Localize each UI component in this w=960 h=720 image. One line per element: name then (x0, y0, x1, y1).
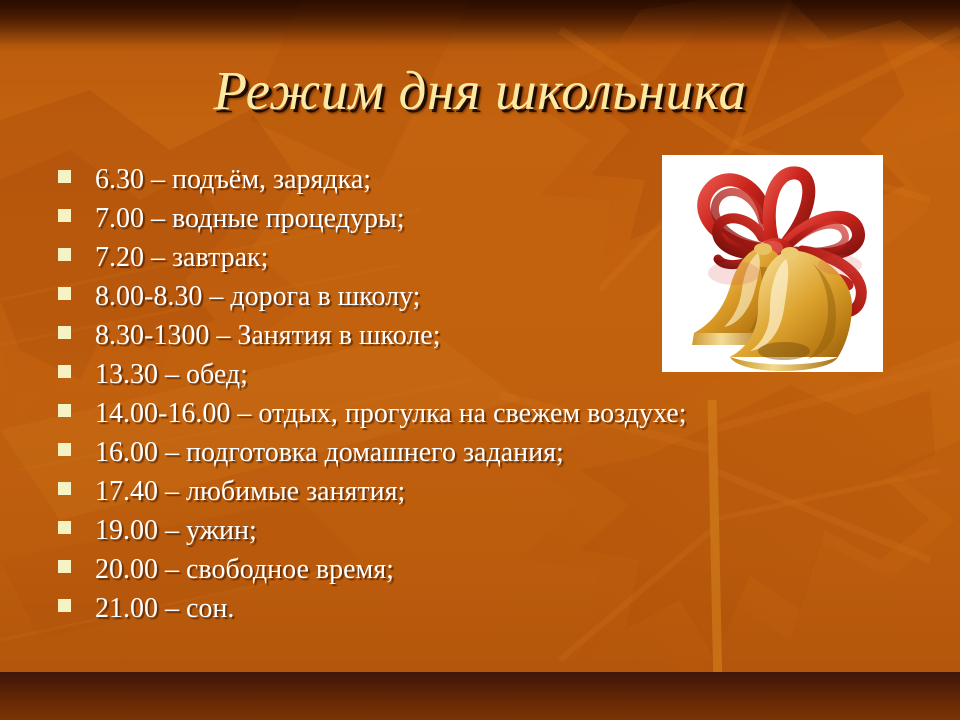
bullet-square-icon (58, 209, 71, 222)
bullet-square-icon (58, 521, 71, 534)
list-item: 16.00 – подготовка домашнего задания; (58, 436, 878, 475)
list-item-label: 7.00 – водные процедуры; (95, 202, 405, 235)
list-item-label: 17.40 – любимые занятия; (95, 475, 405, 508)
list-item: 14.00-16.00 – отдых, прогулка на свежем … (58, 397, 878, 436)
bullet-square-icon (58, 599, 71, 612)
list-item: 20.00 – свободное время; (58, 553, 878, 592)
bullet-square-icon (58, 443, 71, 456)
bullet-square-icon (58, 287, 71, 300)
list-item-label: 21.00 – сон. (95, 592, 234, 625)
list-item-label: 16.00 – подготовка домашнего задания; (95, 436, 564, 469)
presentation-slide: Режим дня школьника 6.30 – подъём, заряд… (0, 0, 960, 720)
bullet-square-icon (58, 248, 71, 261)
bullet-square-icon (58, 404, 71, 417)
bottom-band (0, 672, 960, 720)
list-item-label: 6.30 – подъём, зарядка; (95, 163, 371, 196)
bullet-square-icon (58, 560, 71, 573)
bullet-square-icon (58, 482, 71, 495)
bells-clipart-image (662, 155, 883, 372)
slide-title: Режим дня школьника (0, 60, 960, 122)
list-item: 19.00 – ужин; (58, 514, 878, 553)
list-item: 21.00 – сон. (58, 592, 878, 631)
bullet-square-icon (58, 326, 71, 339)
list-item-label: 20.00 – свободное время; (95, 553, 394, 586)
list-item-label: 13.30 – обед; (95, 358, 248, 391)
list-item-label: 14.00-16.00 – отдых, прогулка на свежем … (95, 397, 687, 430)
list-item: 17.40 – любимые занятия; (58, 475, 878, 514)
list-item-label: 8.00-8.30 – дорога в школу; (95, 280, 420, 313)
bullet-square-icon (58, 170, 71, 183)
list-item-label: 7.20 – завтрак; (95, 241, 268, 274)
list-item-label: 19.00 – ужин; (95, 514, 257, 547)
list-item-label: 8.30-1300 – Занятия в школе; (95, 319, 441, 352)
bullet-square-icon (58, 365, 71, 378)
